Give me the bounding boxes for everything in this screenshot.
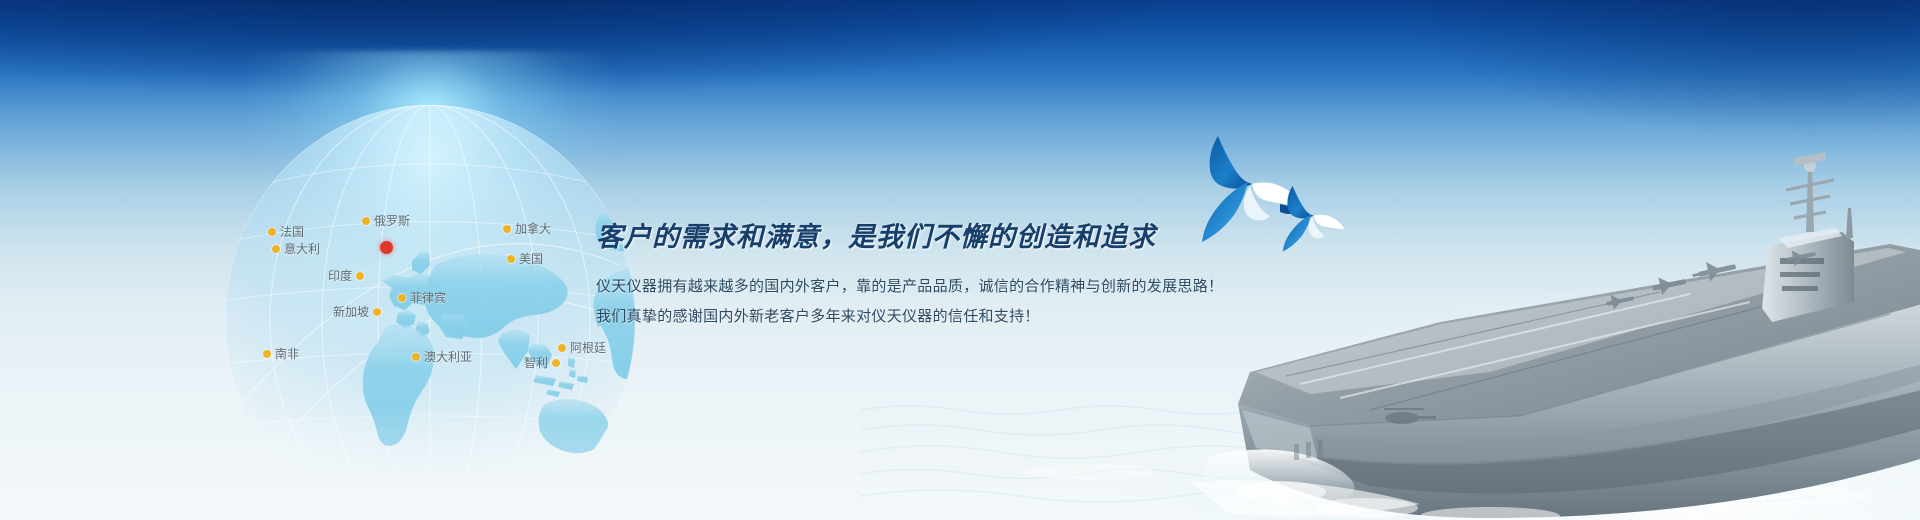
map-marker-label: 印度 <box>328 267 352 284</box>
map-pin-icon <box>412 353 420 361</box>
map-marker-home-china[interactable] <box>380 241 397 254</box>
map-marker-singapore[interactable]: 新加坡 <box>333 303 381 320</box>
map-marker-india[interactable]: 印度 <box>328 267 364 284</box>
map-marker-label: 美国 <box>519 250 543 267</box>
map-marker-italy[interactable]: 意大利 <box>272 240 320 257</box>
map-marker-label: 菲律宾 <box>410 289 446 306</box>
map-marker-label: 新加坡 <box>333 303 369 320</box>
map-pin-icon <box>373 308 381 316</box>
map-marker-label: 南非 <box>275 345 299 362</box>
map-pin-icon <box>398 294 406 302</box>
map-pin-icon <box>552 359 560 367</box>
map-pin-icon <box>268 228 276 236</box>
map-pin-icon <box>503 225 511 233</box>
map-pin-icon <box>558 344 566 352</box>
map-marker-south-africa[interactable]: 南非 <box>263 345 299 362</box>
map-pin-icon <box>272 245 280 253</box>
map-marker-argentina[interactable]: 阿根廷 <box>558 339 606 356</box>
map-marker-australia[interactable]: 澳大利亚 <box>412 348 472 365</box>
map-marker-chile[interactable]: 智利 <box>524 354 560 371</box>
map-marker-label: 法国 <box>280 223 304 240</box>
map-marker-label: 加拿大 <box>515 220 551 237</box>
map-pin-icon <box>263 350 271 358</box>
map-marker-russia[interactable]: 俄罗斯 <box>362 212 410 229</box>
map-pin-icon <box>362 217 370 225</box>
hero-banner: 法国 意大利 俄罗斯 加拿大 美国 印度 菲律宾 新加坡 <box>0 0 1920 520</box>
map-marker-france[interactable]: 法国 <box>268 223 304 240</box>
map-marker-label: 阿根廷 <box>570 339 606 356</box>
map-pin-icon <box>356 272 364 280</box>
home-location-pin-icon <box>380 241 393 254</box>
map-marker-label: 意大利 <box>284 240 320 257</box>
map-marker-canada[interactable]: 加拿大 <box>503 220 551 237</box>
map-marker-philippines[interactable]: 菲律宾 <box>398 289 446 306</box>
map-marker-label: 俄罗斯 <box>374 212 410 229</box>
map-marker-usa[interactable]: 美国 <box>507 250 543 267</box>
map-pin-icon <box>507 255 515 263</box>
aircraft-carrier-icon <box>1190 126 1920 520</box>
map-marker-label: 澳大利亚 <box>424 348 472 365</box>
map-marker-label: 智利 <box>524 354 548 371</box>
